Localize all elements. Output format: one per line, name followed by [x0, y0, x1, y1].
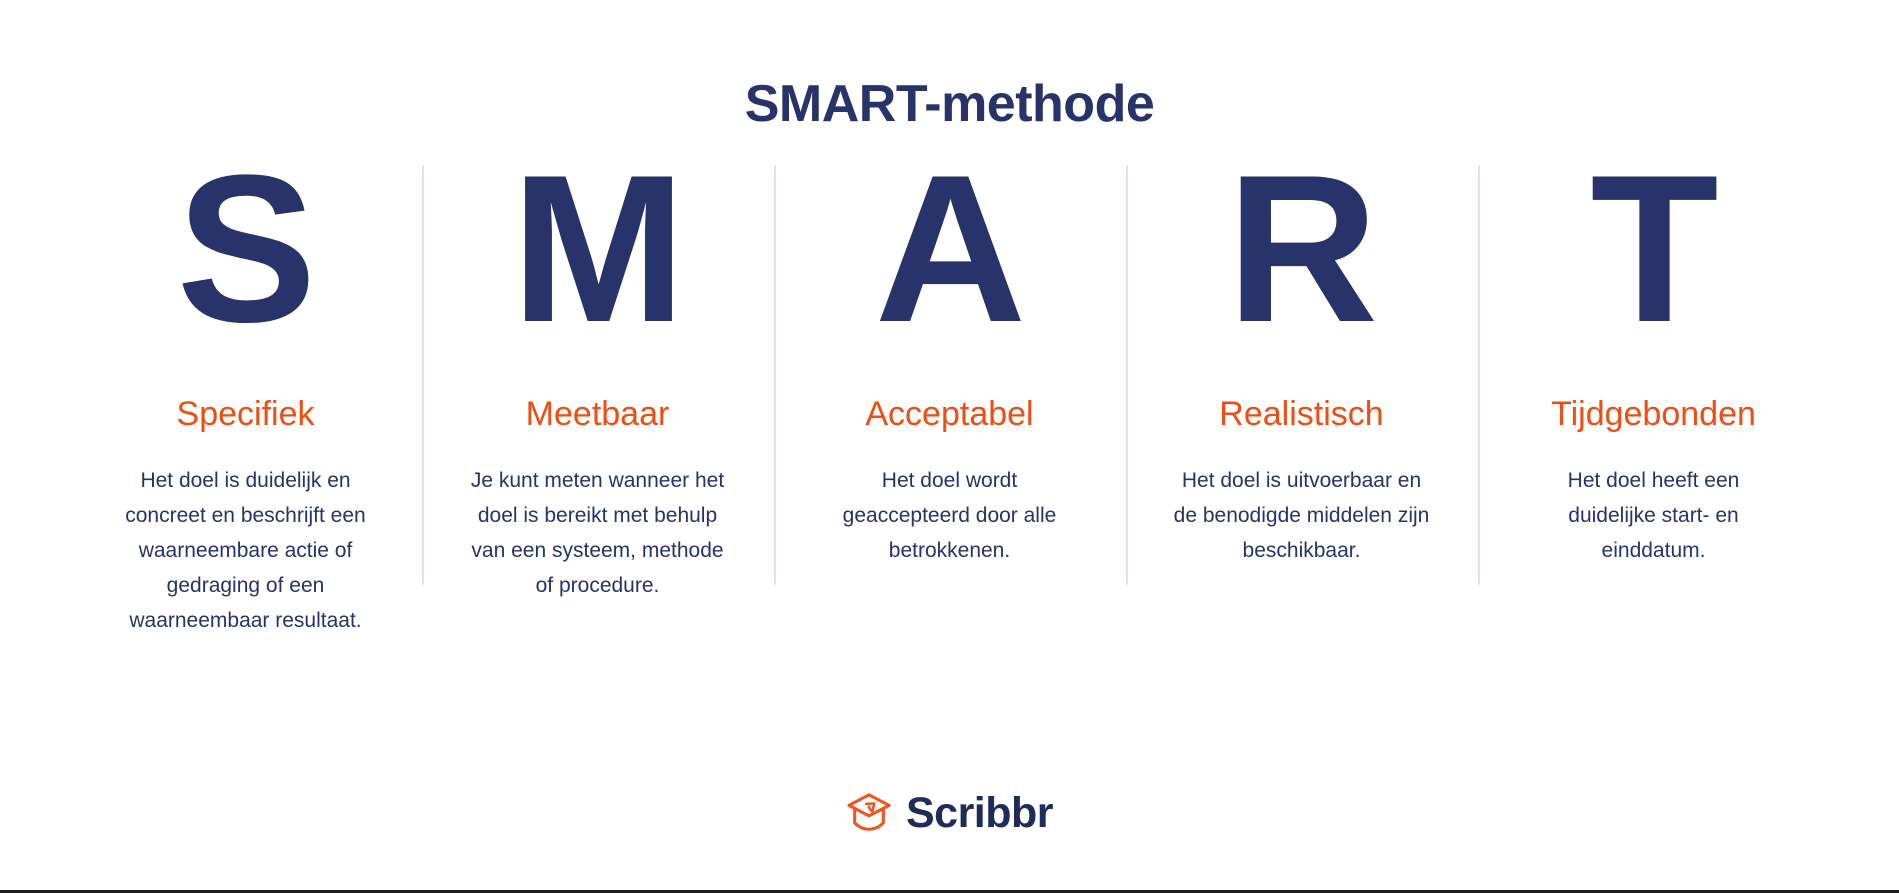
smart-column-m: M Meetbaar Je kunt meten wanneer het doe…	[422, 148, 774, 603]
column-description-tijdgebonden: Het doel heeft een duidelijke start- en …	[1524, 463, 1784, 568]
smart-column-t: T Tijdgebonden Het doel heeft een duidel…	[1478, 148, 1830, 568]
big-letter-r: R	[1227, 148, 1377, 348]
column-heading-meetbaar: Meetbaar	[526, 396, 670, 433]
smart-method-infographic: SMART-methode S Specifiek Het doel is du…	[0, 0, 1899, 893]
column-description-acceptabel: Het doel wordt geaccepteerd door alle be…	[820, 463, 1080, 568]
big-letter-a: A	[875, 148, 1025, 348]
scribbr-logo: Scribbr	[0, 791, 1899, 835]
column-description-meetbaar: Je kunt meten wanneer het doel is bereik…	[468, 463, 728, 603]
brand-name: Scribbr	[906, 792, 1053, 835]
graduation-cap-icon	[846, 791, 892, 835]
big-letter-s: S	[176, 148, 314, 348]
smart-column-a: A Acceptabel Het doel wordt geaccepteerd…	[774, 148, 1126, 568]
column-heading-realistisch: Realistisch	[1219, 396, 1383, 433]
column-description-realistisch: Het doel is uitvoerbaar en de benodigde …	[1172, 463, 1432, 568]
column-description-specifiek: Het doel is duidelijk en concreet en bes…	[116, 463, 376, 638]
column-heading-acceptabel: Acceptabel	[865, 396, 1033, 433]
smart-columns: S Specifiek Het doel is duidelijk en con…	[0, 130, 1899, 638]
smart-column-s: S Specifiek Het doel is duidelijk en con…	[70, 148, 422, 638]
column-heading-tijdgebonden: Tijdgebonden	[1551, 396, 1756, 433]
page-title: SMART-methode	[0, 0, 1899, 130]
big-letter-m: M	[511, 148, 684, 348]
column-heading-specifiek: Specifiek	[177, 396, 315, 433]
smart-column-r: R Realistisch Het doel is uitvoerbaar en…	[1126, 148, 1478, 568]
big-letter-t: T	[1590, 148, 1716, 348]
